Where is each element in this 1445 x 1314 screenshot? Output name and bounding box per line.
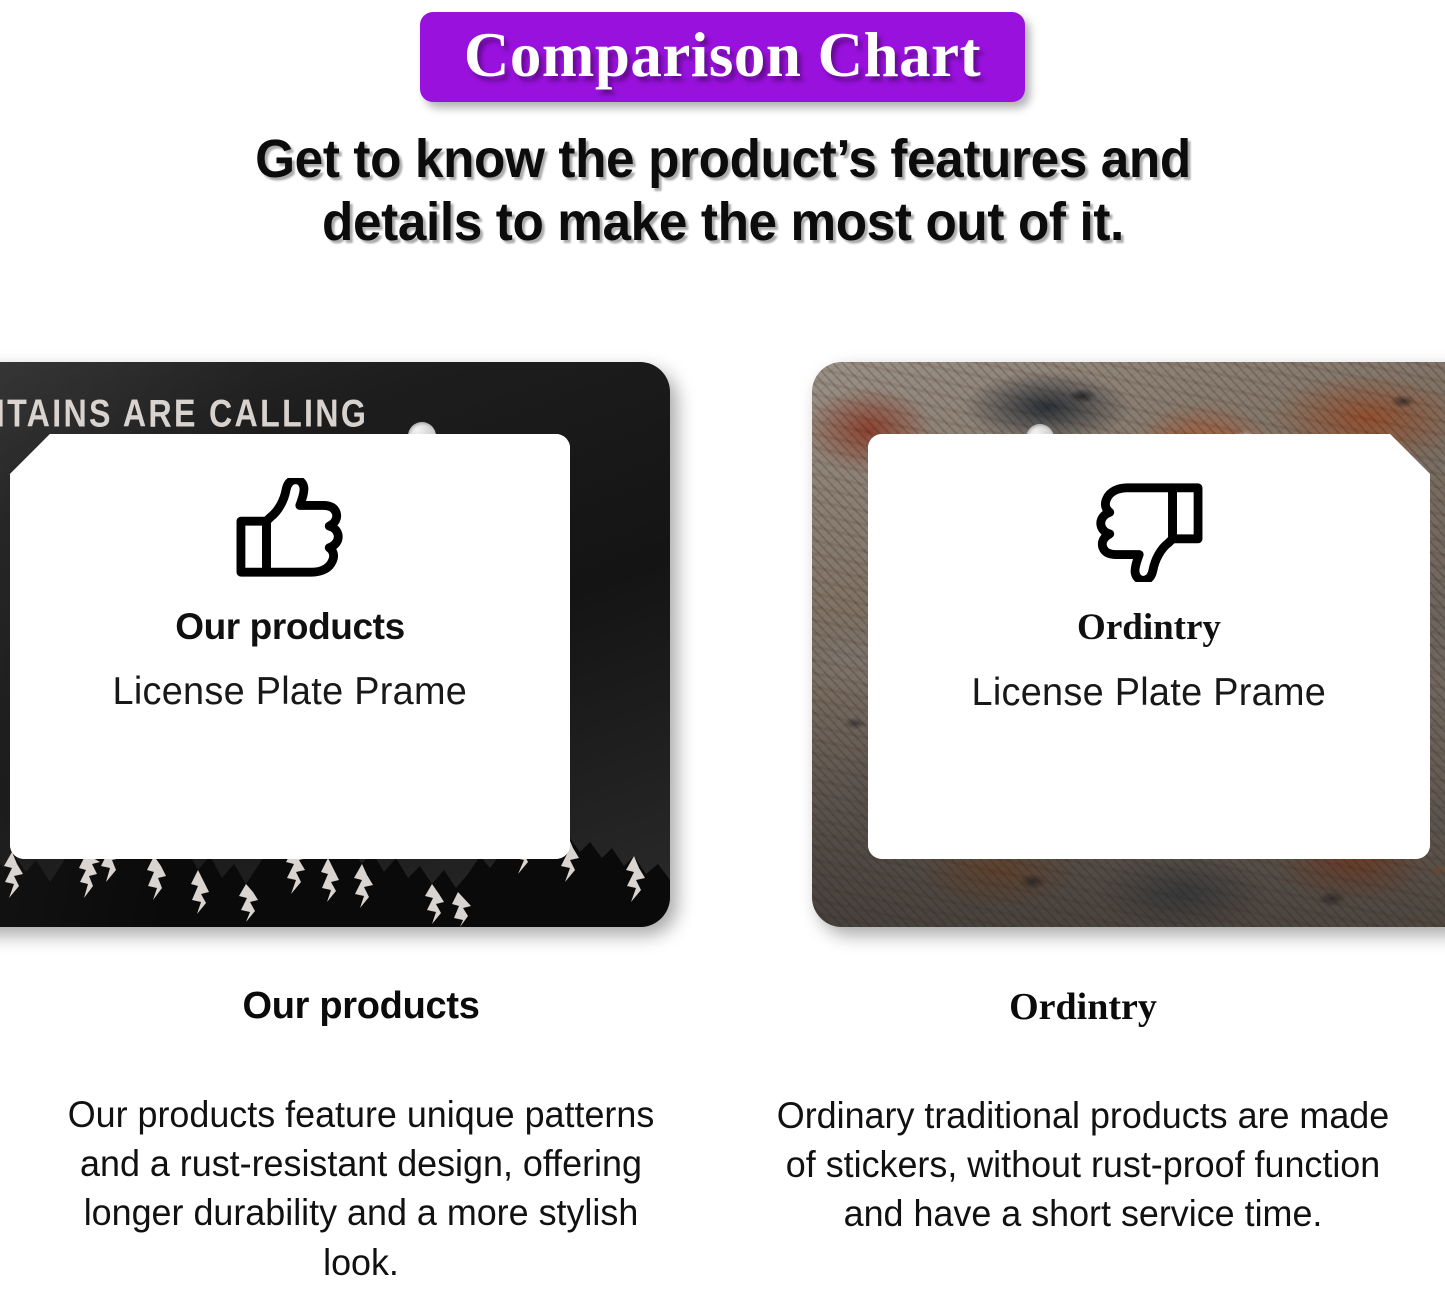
plate-window-content: Ordintry License Plate Prame bbox=[868, 434, 1430, 859]
column-body-ordintry: Ordinary traditional products are made o… bbox=[770, 1091, 1397, 1239]
thumbs-up-icon bbox=[231, 478, 349, 582]
column-title-our-products: Our products bbox=[38, 985, 684, 1028]
page-subtitle: Get to know the product’s features and d… bbox=[153, 128, 1293, 253]
banner-title: Comparison Chart bbox=[464, 22, 981, 88]
ordinary-product-license-plate-frame: Ordintry License Plate Prame bbox=[812, 362, 1445, 927]
plate-window-content: Our products License Plate Prame bbox=[10, 434, 570, 859]
column-title-ordintry: Ordintry bbox=[760, 985, 1406, 1029]
product-frames-row: UNTAINS ARE CALLING bbox=[0, 352, 1445, 932]
plate-title-left: Our products bbox=[175, 606, 405, 648]
plate-subtitle-right: License Plate Prame bbox=[972, 671, 1327, 715]
column-our-products: Our products Our products feature unique… bbox=[0, 985, 722, 1287]
banner-container: Comparison Chart bbox=[0, 0, 1445, 102]
our-product-license-plate-frame: UNTAINS ARE CALLING bbox=[0, 362, 670, 927]
plate-window-left: Our products License Plate Prame bbox=[10, 434, 570, 859]
plate-window-right: Ordintry License Plate Prame bbox=[868, 434, 1430, 859]
subtitle-line-2: details to make the most out of it. bbox=[153, 191, 1293, 254]
plate-subtitle-left: License Plate Prame bbox=[113, 670, 468, 714]
comparison-columns: Our products Our products feature unique… bbox=[0, 985, 1445, 1287]
header-section: Comparison Chart Get to know the product… bbox=[0, 0, 1445, 253]
comparison-chart-banner: Comparison Chart bbox=[420, 12, 1025, 102]
column-ordintry: Ordintry Ordinary traditional products a… bbox=[722, 985, 1444, 1287]
column-body-our-products: Our products feature unique patterns and… bbox=[48, 1090, 675, 1287]
plate-title-right: Ordintry bbox=[1077, 606, 1221, 649]
thumbs-down-icon bbox=[1090, 478, 1208, 582]
frame-tagline: UNTAINS ARE CALLING bbox=[0, 392, 361, 437]
subtitle-line-1: Get to know the product’s features and bbox=[153, 128, 1293, 191]
